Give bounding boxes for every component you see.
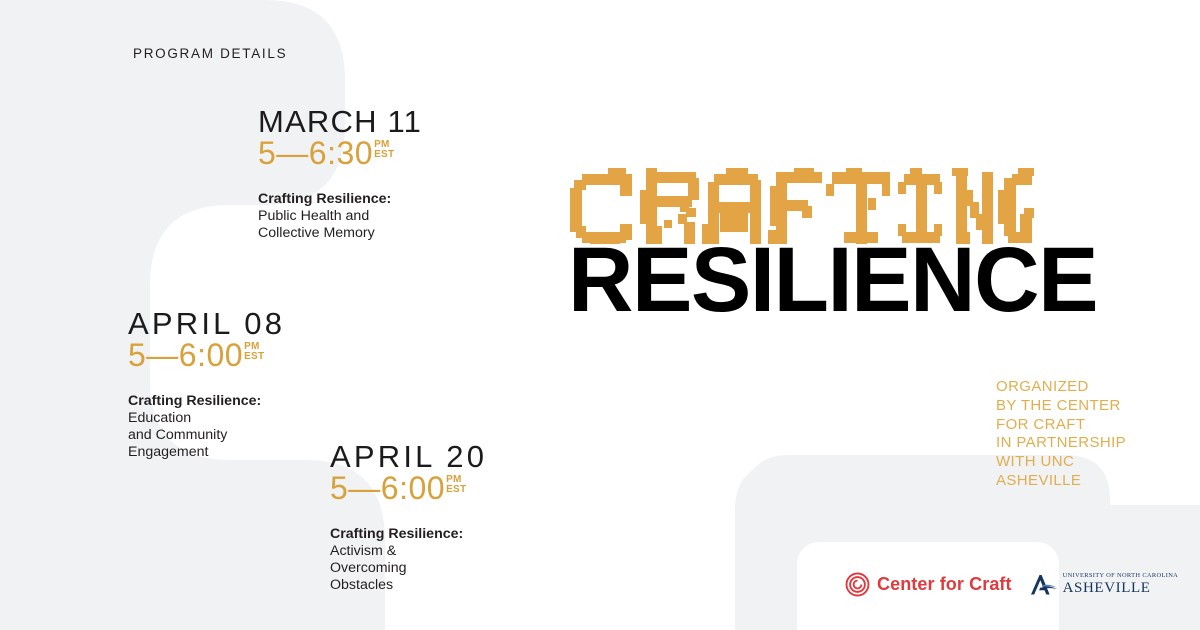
poster-canvas: PROGRAM DETAILS [0,0,1200,630]
event-timezone: PM EST [244,342,264,362]
event-subtitle: Public Health and Collective Memory [258,208,375,241]
event-description: Crafting Resilience: Public Health and C… [258,175,422,242]
resilience-wordmark: RESILIENCE [568,234,1097,326]
concentric-spiral-icon [845,572,870,597]
event-block-april-20: APRIL 20 5—6:00 PM EST Crafting Resilien… [330,441,487,593]
event-series-label: Crafting Resilience: [258,191,391,207]
unca-text-block: University of North Carolina ASHEVILLE [1063,573,1179,595]
center-for-craft-wordmark: Center for Craft [877,574,1012,595]
event-date: MARCH 11 [258,106,422,139]
organizer-credit: ORGANIZED BY THE CENTER FOR CRAFT IN PAR… [996,378,1126,491]
event-description: Crafting Resilience: Activism & Overcomi… [330,510,487,594]
event-time-row: 5—6:00 PM EST [330,472,487,504]
event-time-row: 5—6:00 PM EST [128,339,285,371]
unca-a-swoosh-icon [1028,573,1058,597]
logo-bar: Center for Craft University of North Car… [845,572,1178,597]
event-time: 5—6:00 [330,472,445,504]
page-eyebrow: PROGRAM DETAILS [133,46,287,61]
event-description: Crafting Resilience: Education and Commu… [128,377,285,461]
event-timezone: PM EST [374,140,394,160]
event-date: APRIL 20 [330,441,487,474]
event-series-label: Crafting Resilience: [128,393,261,409]
event-subtitle: Education and Community Engagement [128,410,227,460]
event-subtitle: Activism & Overcoming Obstacles [330,543,406,593]
logo-center-for-craft: Center for Craft [845,572,1012,597]
event-timezone: PM EST [446,475,466,495]
event-date: APRIL 08 [128,308,285,341]
event-time: 5—6:30 [258,137,373,169]
logo-unc-asheville: University of North Carolina ASHEVILLE [1028,573,1179,597]
event-block-april-08: APRIL 08 5—6:00 PM EST Crafting Resilien… [128,308,285,460]
event-series-label: Crafting Resilience: [330,526,463,542]
event-tz-abbr: EST [244,352,264,362]
unca-university-line: University of North Carolina [1063,573,1179,579]
unca-asheville-line: ASHEVILLE [1063,581,1151,596]
event-time-row: 5—6:30 PM EST [258,137,422,169]
event-time: 5—6:00 [128,339,243,371]
title-lockup: RESILIENCE [568,168,1038,323]
event-tz-abbr: EST [446,485,466,495]
event-block-march-11: MARCH 11 5—6:30 PM EST Crafting Resilien… [258,106,422,242]
event-tz-abbr: EST [374,150,394,160]
